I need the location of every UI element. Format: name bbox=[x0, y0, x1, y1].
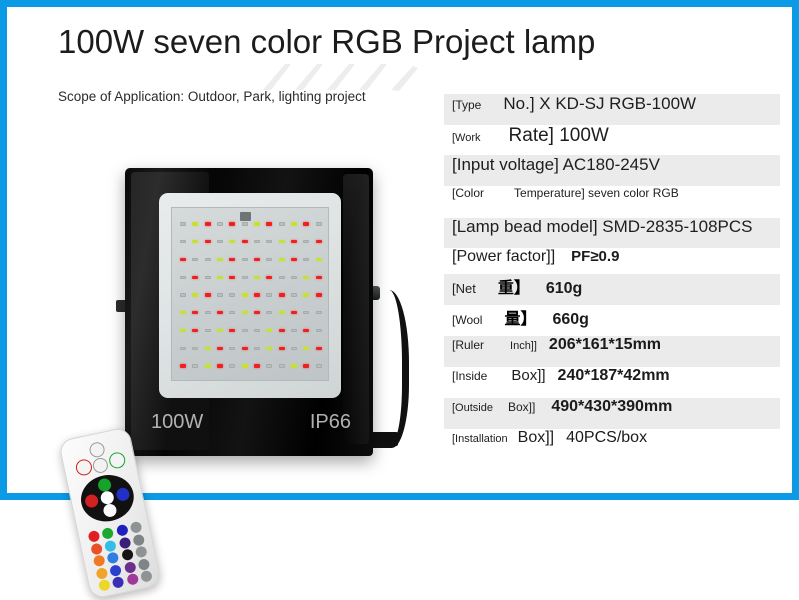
spec-row-net-weight: [Net 重】 610g bbox=[444, 274, 780, 305]
led-chip bbox=[291, 329, 297, 332]
led-chip bbox=[316, 311, 322, 314]
led-chip bbox=[229, 347, 235, 350]
led-chip bbox=[291, 240, 297, 243]
led-chip bbox=[279, 364, 285, 367]
spec-row-power-factor: [Power factor]] PF≥0.9 bbox=[444, 248, 780, 274]
spec-row-installation: [Installation Box]] 40PCS/box bbox=[444, 429, 780, 459]
remote-color-key bbox=[93, 554, 106, 567]
led-chip bbox=[279, 222, 285, 225]
white-button bbox=[102, 503, 117, 518]
led-plate bbox=[171, 207, 329, 381]
led-chip bbox=[229, 293, 235, 296]
led-chip bbox=[217, 329, 223, 332]
spec-label: [Inside bbox=[452, 369, 487, 383]
spec-label: [Type bbox=[452, 98, 481, 112]
spec-label: [Color bbox=[452, 186, 484, 200]
led-chip bbox=[229, 222, 235, 225]
led-chip bbox=[279, 240, 285, 243]
center-button bbox=[100, 490, 115, 505]
remote-color-key bbox=[90, 542, 103, 555]
led-chip bbox=[180, 293, 186, 296]
remote-color-key bbox=[140, 570, 153, 583]
spec-label: [Outside bbox=[452, 403, 496, 414]
spec-label: [Installation bbox=[452, 433, 508, 445]
led-chip bbox=[279, 347, 285, 350]
led-chip bbox=[217, 347, 223, 350]
led-chip bbox=[192, 364, 198, 367]
remote-color-key bbox=[118, 536, 131, 549]
spec-value: 610g bbox=[546, 280, 582, 298]
page-subtitle: Scope of Application: Outdoor, Park, lig… bbox=[58, 89, 366, 104]
remote-color-key bbox=[95, 567, 108, 580]
power-off-button bbox=[74, 458, 93, 477]
led-chip bbox=[242, 364, 248, 367]
border-top bbox=[0, 0, 799, 7]
spec-value: 40PCS/box bbox=[566, 429, 647, 447]
led-chip bbox=[192, 347, 198, 350]
led-chip bbox=[180, 364, 186, 367]
led-chip bbox=[303, 276, 309, 279]
spec-value: 240*187*42mm bbox=[558, 367, 670, 385]
remote-color-key bbox=[130, 521, 143, 534]
led-chip bbox=[242, 276, 248, 279]
led-chip bbox=[217, 258, 223, 261]
led-chip bbox=[316, 258, 322, 261]
spec-label-cjk: 量】 bbox=[504, 305, 536, 329]
spec-label: [Power factor]] bbox=[452, 248, 555, 266]
spec-label-unit: Inch]] bbox=[510, 340, 537, 352]
led-chip bbox=[180, 240, 186, 243]
spec-label: [Work bbox=[452, 132, 481, 144]
remote-color-key bbox=[123, 561, 136, 574]
spec-label-unit: Box]] bbox=[518, 429, 554, 447]
led-chip bbox=[205, 364, 211, 367]
spec-row-input-voltage: [Input voltage] AC180-245V bbox=[444, 155, 780, 186]
power-on-button bbox=[108, 451, 127, 470]
led-chip bbox=[242, 347, 248, 350]
spec-value: 490*430*390mm bbox=[551, 398, 672, 416]
led-chip bbox=[266, 329, 272, 332]
led-chip bbox=[192, 222, 198, 225]
led-chip bbox=[316, 364, 322, 367]
led-chip bbox=[205, 276, 211, 279]
lamp-panel-frame bbox=[159, 193, 341, 398]
spec-label: [Wool bbox=[452, 313, 482, 327]
spec-row-work-rate: [Work Rate] 100W bbox=[444, 125, 780, 155]
led-chip bbox=[266, 240, 272, 243]
led-chip bbox=[291, 276, 297, 279]
led-chip bbox=[192, 258, 198, 261]
led-chip bbox=[303, 329, 309, 332]
flood-lamp-body: 100W IP66 bbox=[125, 168, 373, 456]
remote-color-key bbox=[137, 558, 150, 571]
led-chip bbox=[279, 276, 285, 279]
led-chip bbox=[266, 276, 272, 279]
remote-color-key bbox=[107, 551, 120, 564]
led-chip bbox=[266, 258, 272, 261]
spec-row-inside-box: [Inside Box]] 240*187*42mm bbox=[444, 367, 780, 398]
led-chip bbox=[192, 276, 198, 279]
remote-dpad bbox=[77, 470, 138, 526]
spec-row-gross-weight: [Wool 量】 660g bbox=[444, 305, 780, 336]
product-spec-sheet: 100W seven color RGB Project lamp Scope … bbox=[0, 0, 799, 500]
led-chip bbox=[291, 347, 297, 350]
remote-color-key bbox=[135, 545, 148, 558]
led-chip bbox=[316, 222, 322, 225]
spec-label-unit: Box]] bbox=[511, 367, 545, 384]
spec-value: Temperature] seven color RGB bbox=[514, 187, 679, 201]
led-chip bbox=[242, 240, 248, 243]
led-chip bbox=[217, 364, 223, 367]
led-chip bbox=[229, 276, 235, 279]
remote-color-key bbox=[87, 530, 100, 543]
led-chip bbox=[180, 347, 186, 350]
spec-label-cjk: 重】 bbox=[498, 274, 530, 298]
led-chip bbox=[254, 276, 260, 279]
remote-color-key bbox=[116, 524, 129, 537]
led-chip bbox=[291, 293, 297, 296]
spec-label: [Input voltage] AC180-245V bbox=[452, 155, 660, 175]
led-chip bbox=[205, 347, 211, 350]
led-chip bbox=[291, 258, 297, 261]
led-chip bbox=[303, 293, 309, 296]
brightness-up-button bbox=[88, 441, 106, 459]
led-chip bbox=[316, 240, 322, 243]
green-button bbox=[97, 477, 112, 492]
led-chip bbox=[303, 364, 309, 367]
led-chip bbox=[266, 293, 272, 296]
spec-row-color-temperature: [Color Temperature] seven color RGB bbox=[444, 186, 780, 218]
remote-color-key bbox=[101, 527, 114, 540]
led-chip bbox=[279, 293, 285, 296]
led-chip bbox=[266, 311, 272, 314]
brightness-down-button bbox=[92, 457, 110, 475]
border-right bbox=[792, 0, 799, 500]
spec-label: [Net bbox=[452, 281, 476, 296]
remote-color-grid bbox=[87, 521, 154, 589]
remote-color-key bbox=[112, 576, 125, 589]
led-chip bbox=[254, 329, 260, 332]
led-grid bbox=[177, 215, 325, 375]
spec-label-unit: Box]] bbox=[508, 400, 535, 414]
led-chip bbox=[217, 293, 223, 296]
led-chip bbox=[316, 293, 322, 296]
led-chip bbox=[192, 293, 198, 296]
led-chip bbox=[180, 276, 186, 279]
border-left bbox=[0, 0, 7, 500]
led-chip bbox=[266, 222, 272, 225]
product-photo: 100W IP66 bbox=[30, 150, 420, 470]
spec-value: 660g bbox=[552, 311, 588, 329]
led-chip bbox=[229, 258, 235, 261]
led-chip bbox=[303, 347, 309, 350]
led-chip bbox=[303, 240, 309, 243]
spec-value: PF≥0.9 bbox=[571, 248, 619, 265]
led-chip bbox=[254, 311, 260, 314]
led-chip bbox=[229, 240, 235, 243]
led-chip bbox=[266, 364, 272, 367]
spec-value: No.] X KD-SJ RGB-100W bbox=[503, 94, 696, 114]
led-chip bbox=[242, 293, 248, 296]
remote-color-key bbox=[121, 548, 134, 561]
led-chip bbox=[254, 347, 260, 350]
spec-value: Rate] 100W bbox=[509, 125, 609, 147]
remote-color-key bbox=[104, 539, 117, 552]
led-chip bbox=[254, 240, 260, 243]
led-chip bbox=[242, 258, 248, 261]
led-chip bbox=[242, 222, 248, 225]
led-chip bbox=[192, 311, 198, 314]
led-chip bbox=[205, 240, 211, 243]
led-chip bbox=[279, 258, 285, 261]
led-chip bbox=[205, 311, 211, 314]
remote-color-key bbox=[109, 564, 122, 577]
led-chip bbox=[205, 258, 211, 261]
led-chip bbox=[316, 329, 322, 332]
spec-row-type: [Type No.] X KD-SJ RGB-100W bbox=[444, 94, 780, 125]
led-chip bbox=[291, 222, 297, 225]
led-chip bbox=[291, 311, 297, 314]
spec-row-ruler-size: [Ruler Inch]] 206*161*15mm bbox=[444, 336, 780, 367]
spec-label: [Ruler bbox=[452, 338, 484, 352]
led-chip bbox=[279, 311, 285, 314]
spec-value: 206*161*15mm bbox=[549, 336, 661, 354]
led-chip bbox=[217, 222, 223, 225]
led-chip bbox=[316, 276, 322, 279]
led-chip bbox=[316, 347, 322, 350]
lamp-gloss-right bbox=[343, 174, 369, 444]
lamp-wattage-label: 100W bbox=[151, 411, 203, 434]
led-chip bbox=[205, 329, 211, 332]
remote-color-key bbox=[98, 579, 111, 592]
led-chip bbox=[205, 293, 211, 296]
spec-row-outside-box: [Outside Box]] 490*430*390mm bbox=[444, 398, 780, 429]
remote-color-key bbox=[132, 533, 145, 546]
led-chip bbox=[254, 364, 260, 367]
led-chip bbox=[180, 329, 186, 332]
led-chip bbox=[180, 311, 186, 314]
led-chip bbox=[254, 293, 260, 296]
spec-row-lamp-bead-model: [Lamp bead model] SMD-2835-108PCS bbox=[444, 218, 780, 248]
led-chip bbox=[192, 329, 198, 332]
led-chip bbox=[217, 240, 223, 243]
led-chip bbox=[242, 311, 248, 314]
led-chip bbox=[180, 222, 186, 225]
page-title: 100W seven color RGB Project lamp bbox=[58, 23, 595, 61]
spec-label: [Lamp bead model] SMD-2835-108PCS bbox=[452, 218, 753, 236]
led-chip bbox=[217, 276, 223, 279]
led-chip bbox=[217, 311, 223, 314]
led-chip bbox=[229, 311, 235, 314]
led-chip bbox=[291, 364, 297, 367]
led-chip bbox=[192, 240, 198, 243]
led-chip bbox=[303, 311, 309, 314]
remote-color-key bbox=[126, 573, 139, 586]
specification-table: [Type No.] X KD-SJ RGB-100W [Work Rate] … bbox=[444, 94, 780, 459]
led-chip bbox=[205, 222, 211, 225]
led-chip bbox=[254, 258, 260, 261]
led-chip bbox=[254, 222, 260, 225]
led-chip bbox=[303, 222, 309, 225]
led-chip bbox=[279, 329, 285, 332]
led-chip bbox=[303, 258, 309, 261]
lamp-ip-rating-label: IP66 bbox=[310, 411, 351, 434]
led-chip bbox=[242, 329, 248, 332]
led-chip bbox=[180, 258, 186, 261]
red-button bbox=[84, 493, 99, 508]
led-chip bbox=[229, 329, 235, 332]
led-chip bbox=[266, 347, 272, 350]
led-chip bbox=[229, 364, 235, 367]
